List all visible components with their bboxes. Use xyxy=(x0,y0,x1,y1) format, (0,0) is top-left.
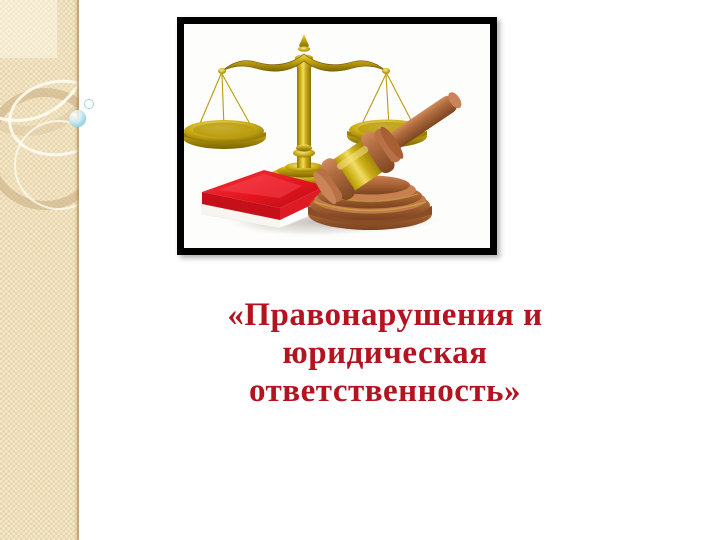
scales-of-justice-gavel-and-law-book-illustration xyxy=(184,24,490,248)
page-title-line-3: ответственность» xyxy=(150,372,620,410)
slide-image-frame xyxy=(177,17,497,255)
page-title-line-1: «Правонарушения и xyxy=(150,296,620,334)
sidebar-edge-line xyxy=(77,0,79,540)
decorative-bubble-outline-icon xyxy=(84,99,94,109)
page-title-line-2: юридическая xyxy=(150,334,620,372)
decorative-bubble-icon xyxy=(69,110,86,127)
page-title: «Правонарушения и юридическая ответствен… xyxy=(150,296,620,410)
presentation-slide: «Правонарушения и юридическая ответствен… xyxy=(0,0,720,540)
decorative-sidebar xyxy=(0,0,79,540)
slide-image xyxy=(184,24,490,248)
